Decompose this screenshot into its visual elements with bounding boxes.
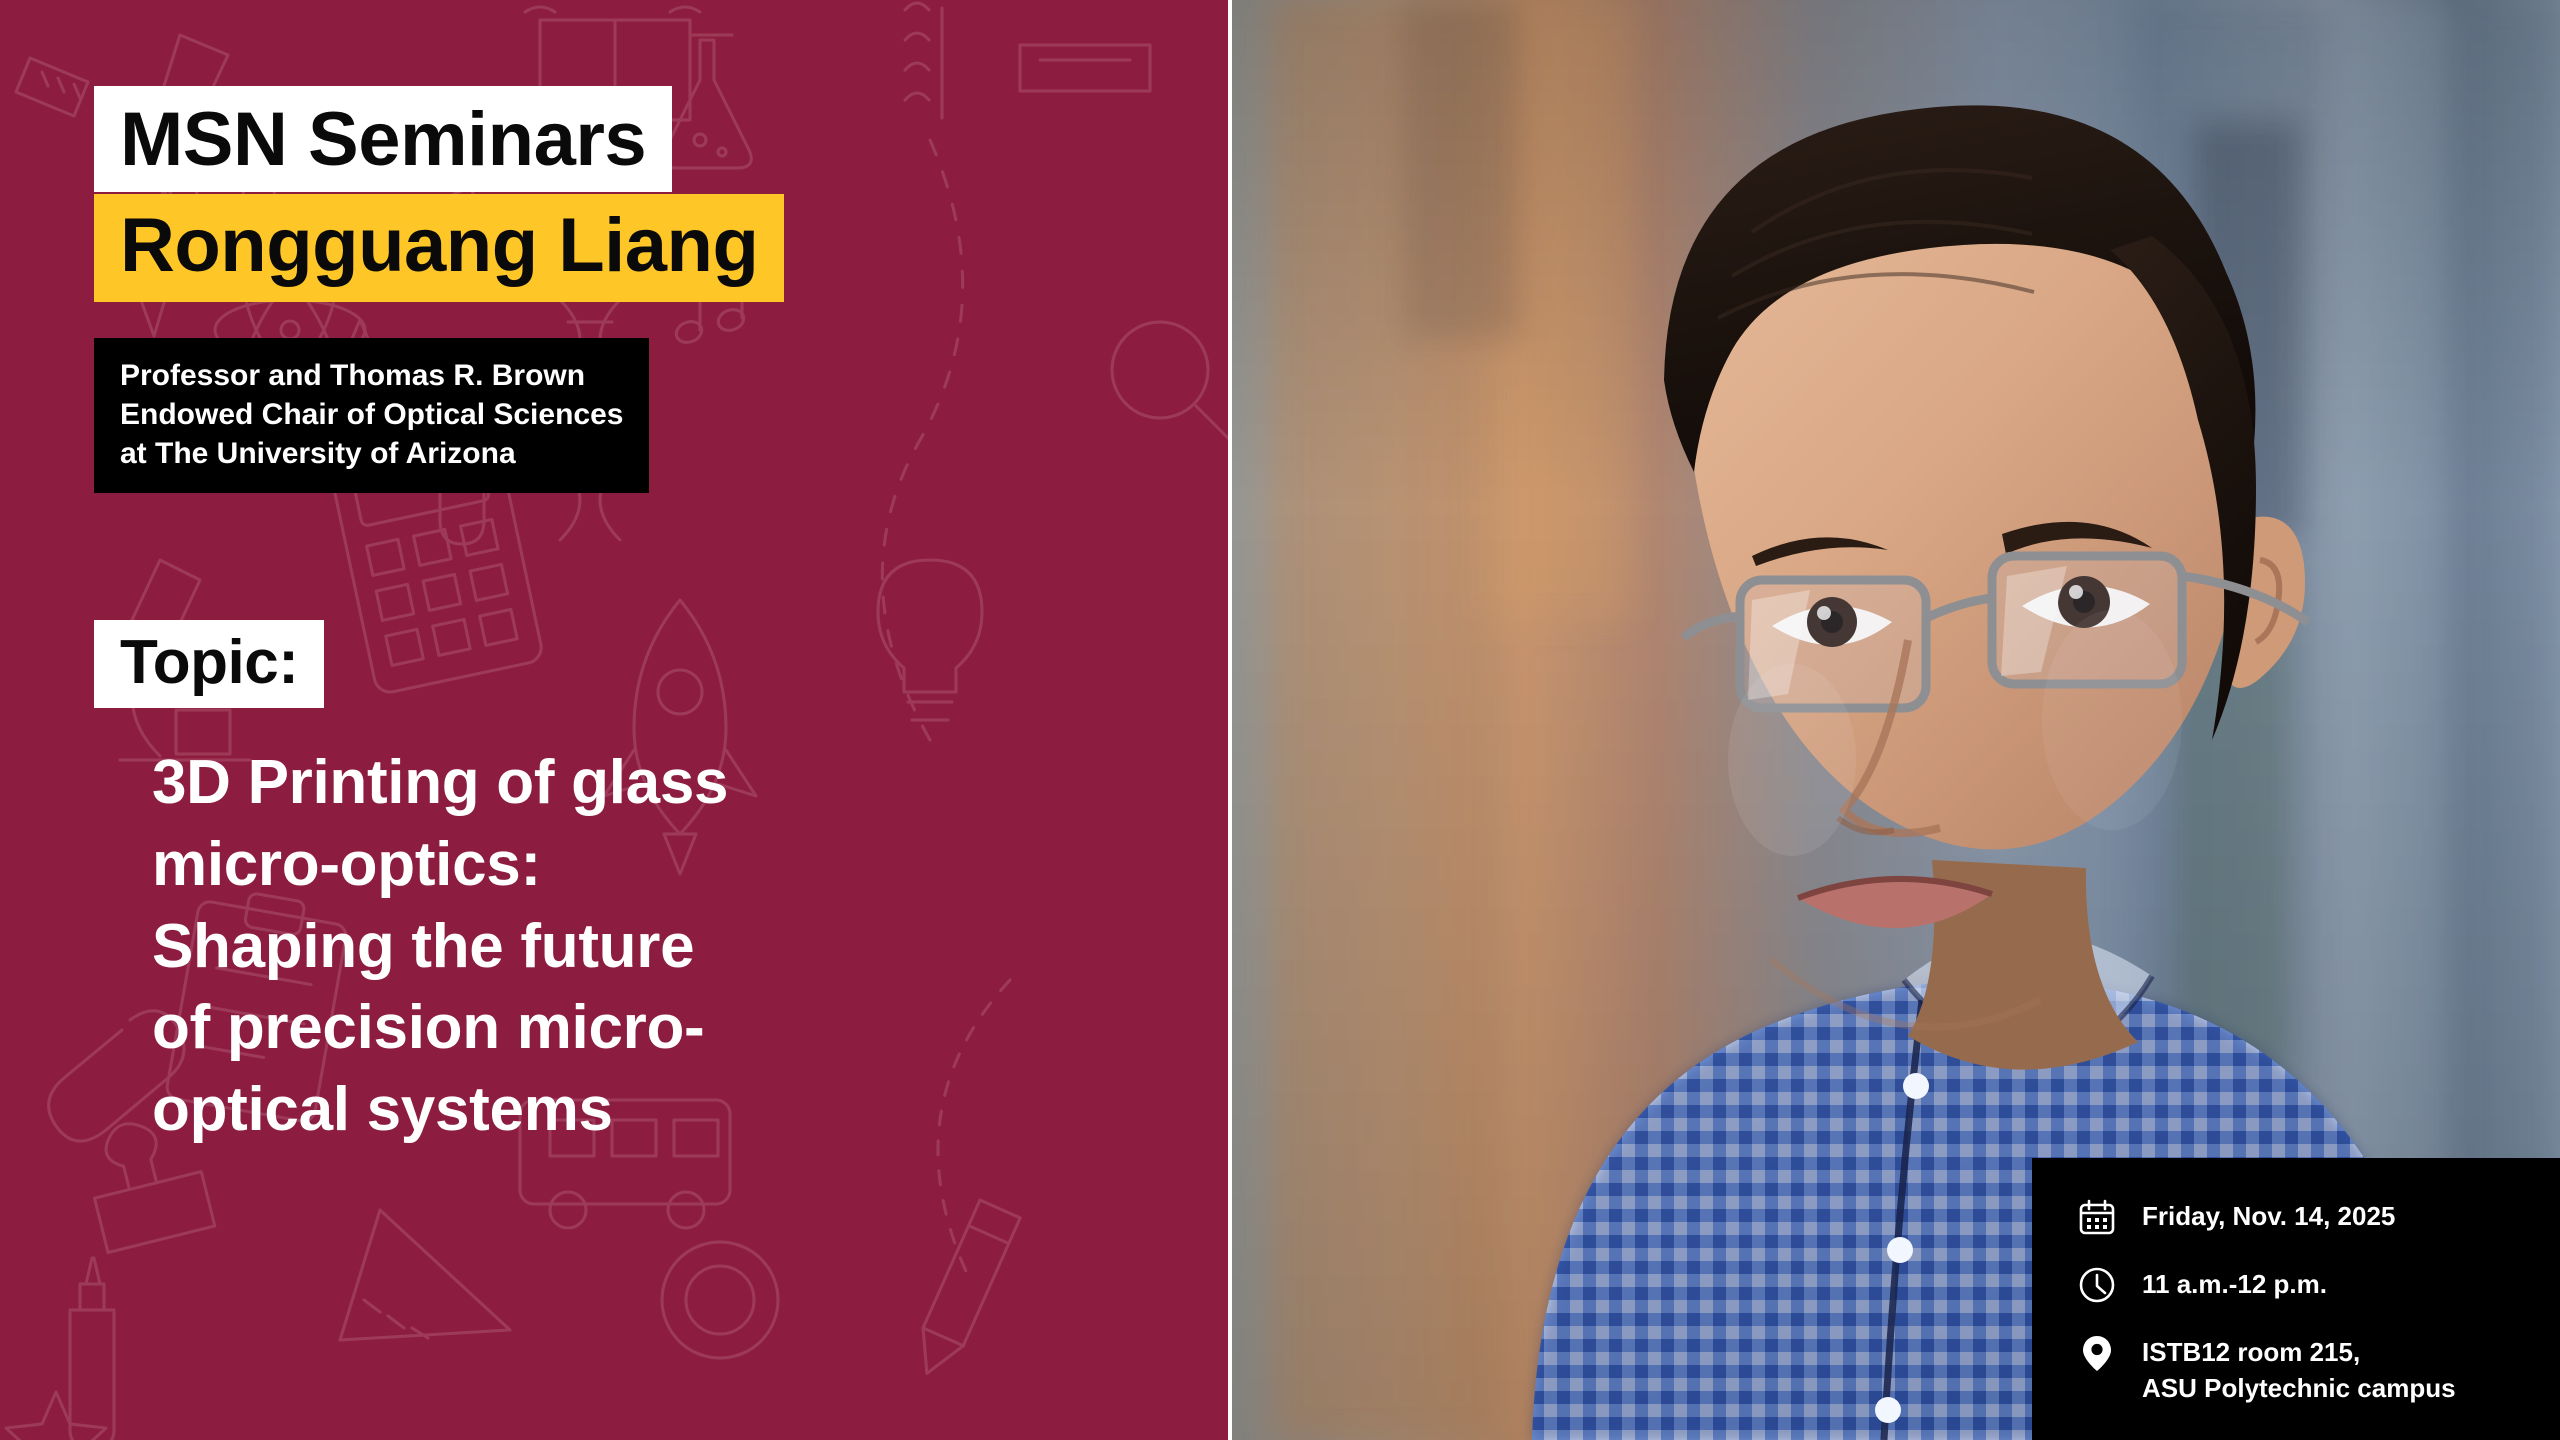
event-date: Friday, Nov. 14, 2025 [2142,1194,2395,1235]
topic-title: 3D Printing of glass micro-optics: Shapi… [152,742,728,1151]
credentials-line-3: at The University of Arizona [120,434,623,473]
topic-line-3: Shaping the future [152,906,728,988]
topic-label: Topic: [120,632,298,694]
calendar-icon [2074,1194,2120,1240]
topic-line-5: optical systems [152,1069,728,1151]
detail-row-location: ISTB12 room 215, ASU Polytechnic campus [2074,1330,2560,1407]
event-location-line-2: ASU Polytechnic campus [2142,1373,2456,1403]
event-location: ISTB12 room 215, ASU Polytechnic campus [2142,1330,2456,1407]
seminar-poster: MSN Seminars Rongguang Liang Professor a… [0,0,2560,1440]
detail-row-time: 11 a.m.-12 p.m. [2074,1262,2560,1308]
credentials-line-1: Professor and Thomas R. Brown [120,356,623,395]
topic-line-4: of precision micro- [152,987,728,1069]
detail-row-date: Friday, Nov. 14, 2025 [2074,1194,2560,1240]
topic-line-1: 3D Printing of glass [152,742,728,824]
event-location-line-1: ISTB12 room 215, [2142,1337,2360,1367]
clock-icon [2074,1262,2120,1308]
topic-line-2: micro-optics: [152,824,728,906]
title-block: MSN Seminars Rongguang Liang [94,86,784,302]
speaker-name: Rongguang Liang [94,194,784,302]
location-pin-icon [2074,1330,2120,1376]
left-maroon-panel: MSN Seminars Rongguang Liang Professor a… [0,0,1228,1440]
speaker-credentials-box: Professor and Thomas R. Brown Endowed Ch… [94,338,649,493]
event-time: 11 a.m.-12 p.m. [2142,1262,2327,1303]
topic-label-box: Topic: [94,620,324,708]
credentials-line-2: Endowed Chair of Optical Sciences [120,395,623,434]
event-details-box: Friday, Nov. 14, 2025 11 a.m.-12 p.m. IS… [2032,1158,2560,1440]
seminar-series-title: MSN Seminars [94,86,672,192]
